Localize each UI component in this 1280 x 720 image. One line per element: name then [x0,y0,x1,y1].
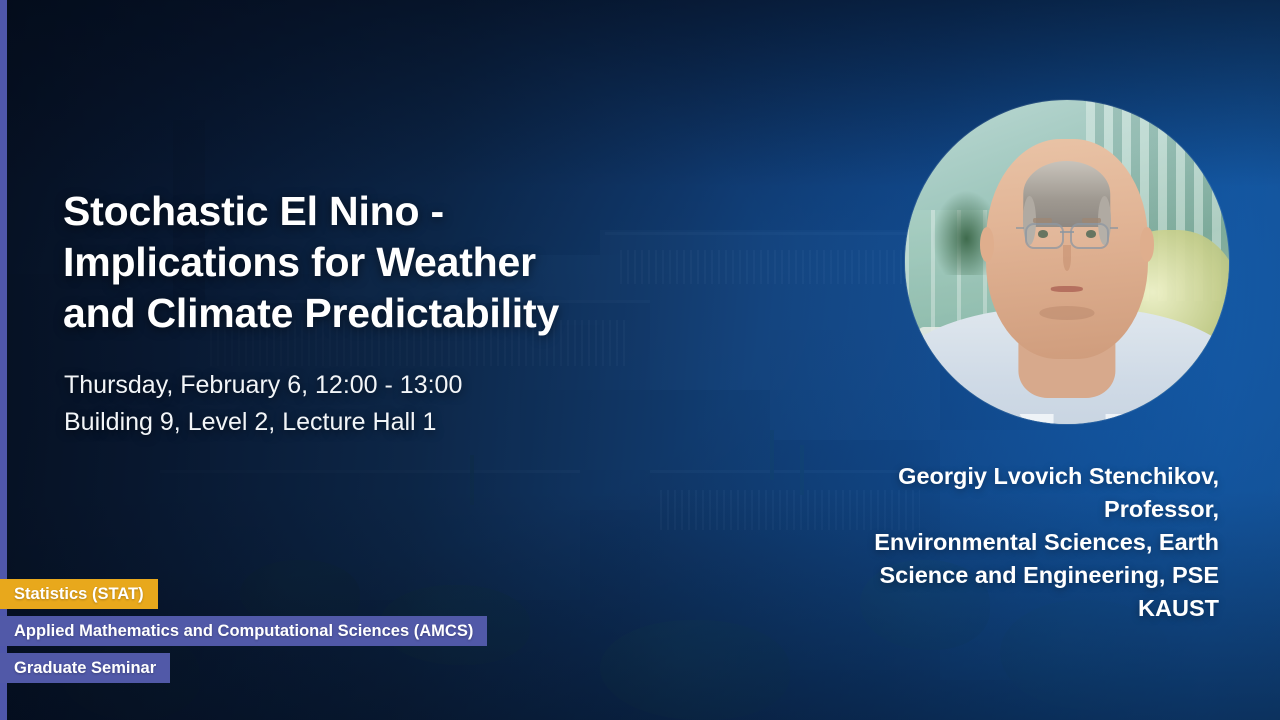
badge-amcs[interactable]: Applied Mathematics and Computational Sc… [0,616,487,646]
portrait-head [986,139,1148,359]
event-title-line: Implications for Weather [63,237,683,288]
speaker-affiliation-line: Environmental Sciences, Earth [739,526,1219,559]
event-title-line: Stochastic El Nino - [63,186,683,237]
speaker-name: Georgiy Lvovich Stenchikov, [739,460,1219,493]
event-location: Building 9, Level 2, Lecture Hall 1 [64,404,684,441]
category-badges: Statistics (STAT) Applied Mathematics an… [0,579,487,690]
glasses-temple-left [1016,227,1024,229]
portrait-mouth [1051,286,1083,292]
speaker-info: Georgiy Lvovich Stenchikov, Professor, E… [739,460,1219,625]
badge-statistics[interactable]: Statistics (STAT) [0,579,158,609]
event-title: Stochastic El Nino - Implications for We… [63,186,683,339]
lens-right [1070,223,1109,249]
speaker-portrait [905,100,1229,424]
speaker-affiliation-line: Science and Engineering, PSE [739,559,1219,592]
event-title-line: and Climate Predictability [63,288,683,339]
portrait-chin-shadow [1039,306,1094,319]
eyeglasses-icon [1025,223,1109,245]
glasses-bridge [1060,231,1073,233]
speaker-institution: KAUST [739,592,1219,625]
event-datetime: Thursday, February 6, 12:00 - 13:00 [64,367,684,404]
portrait-collar-right [1106,414,1140,424]
portrait-nose [1063,245,1071,271]
speaker-role: Professor, [739,493,1219,526]
event-announcement-poster: Stochastic El Nino - Implications for We… [0,0,1280,720]
badge-graduate-seminar[interactable]: Graduate Seminar [0,653,170,683]
lens-left [1025,223,1064,249]
glasses-temple-right [1110,227,1118,229]
portrait-collar-left [1020,414,1054,424]
event-meta: Thursday, February 6, 12:00 - 13:00 Buil… [64,367,684,441]
portrait-ear-left [980,227,995,262]
